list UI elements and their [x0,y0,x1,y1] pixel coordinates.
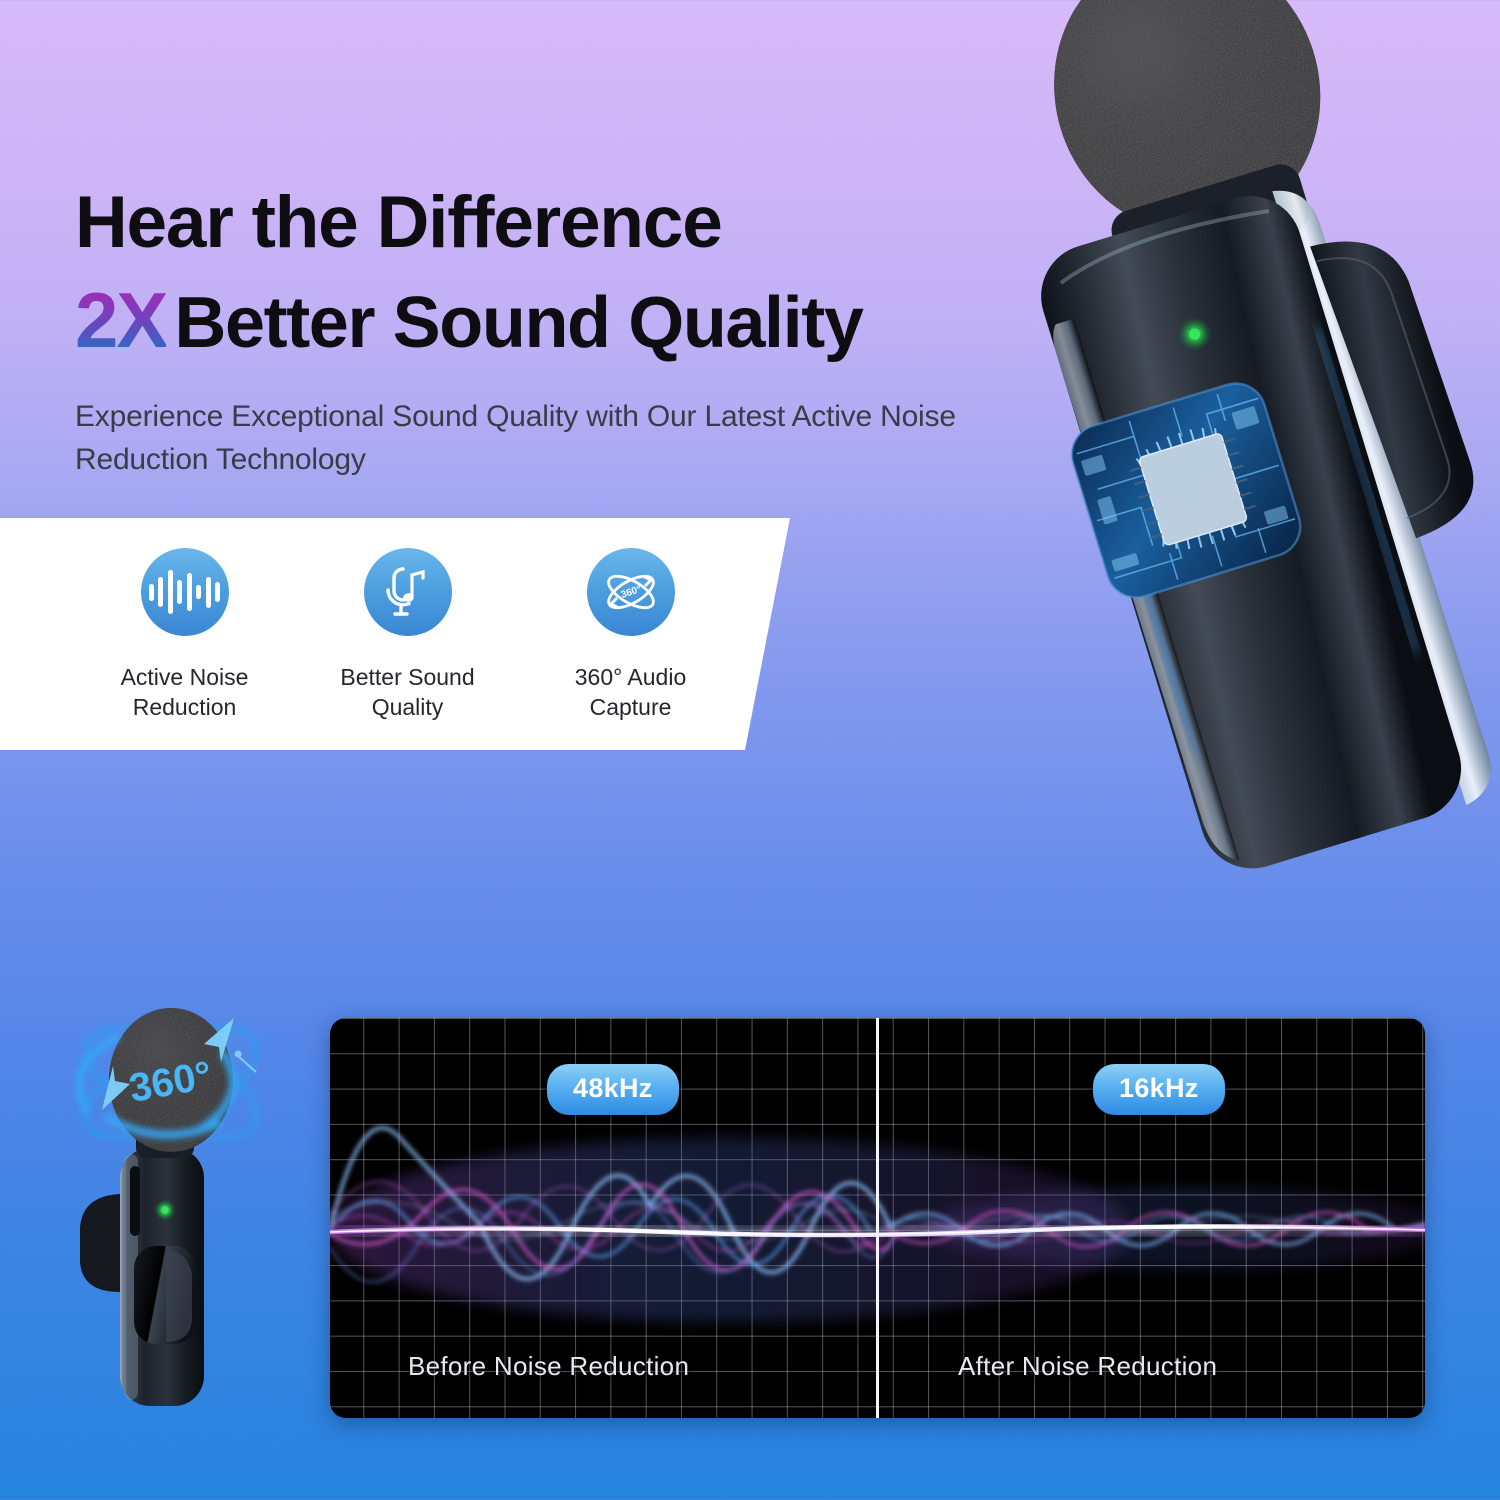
comparison-divider [876,1018,879,1418]
microphone-360-illustration: 360° [38,988,308,1418]
feature-label-line2: Reduction [133,694,237,720]
feature-item-better-sound-quality: Better Sound Quality [335,548,480,723]
microphone-music-note-icon [364,548,452,636]
feature-label-line1: Better Sound [340,664,474,690]
headline-secondary-row: 2X Better Sound Quality [75,275,1035,366]
feature-label-line2: Quality [372,694,444,720]
waveform-comparison-panel: 48kHz 16kHz Before Noise Reduction After… [330,1018,1425,1418]
feature-list: Active Noise Reduction Better Sound Qual… [0,518,800,723]
headline-secondary: Better Sound Quality [174,282,862,364]
caption-before-noise-reduction: Before Noise Reduction [408,1351,689,1382]
hero-text-block: Hear the Difference 2X Better Sound Qual… [75,186,1035,481]
hero-subhead: Experience Exceptional Sound Quality wit… [75,396,1035,481]
feature-item-360-audio-capture: 360° 360° Audio Capture [558,548,703,723]
led-indicator-360 [154,1199,176,1221]
feature-banner: Active Noise Reduction Better Sound Qual… [0,518,800,750]
feature-label-line1: 360° Audio [575,664,687,690]
orbit-360-icon: 360° [587,548,675,636]
feature-label-line1: Active Noise [121,664,249,690]
feature-item-active-noise-reduction: Active Noise Reduction [112,548,257,723]
sound-wave-icon [141,548,229,636]
feature-label-line2: Capture [590,694,672,720]
multiplier-badge: 2X [75,275,166,366]
sample-rate-badge-before: 48kHz [547,1064,679,1115]
page-title: Hear the Difference [75,186,1035,259]
caption-after-noise-reduction: After Noise Reduction [958,1351,1217,1382]
sample-rate-badge-after: 16kHz [1093,1064,1225,1115]
